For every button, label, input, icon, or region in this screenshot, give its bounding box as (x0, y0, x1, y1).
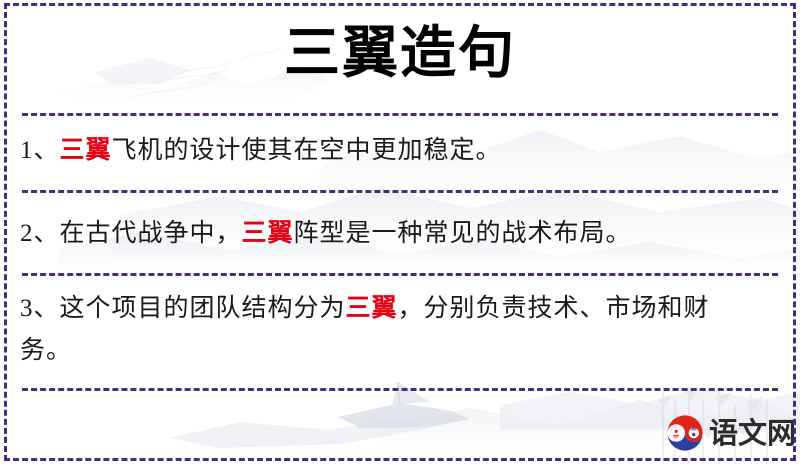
sentence-3-number: 3、 (20, 295, 60, 322)
sentence-item-2: 2、在古代战争中，三翼阵型是一种常见的战术布局。 (20, 213, 784, 255)
sentence-1-keyword: 三翼 (60, 137, 112, 164)
separator-line-3 (22, 273, 778, 276)
content-layer: 三翼造句 1、三翼飞机的设计使其在空中更加稳定。 2、在古代战争中，三翼阵型是一… (0, 0, 800, 464)
sentence-2-number: 2、 (20, 220, 60, 247)
separator-line-4 (22, 388, 778, 391)
sentence-item-1: 1、三翼飞机的设计使其在空中更加稳定。 (20, 130, 784, 172)
site-logo[interactable]: 语文网 (665, 410, 790, 456)
yinyang-fish-logo-icon (665, 413, 705, 453)
sentence-3-keyword: 三翼 (346, 295, 398, 322)
site-logo-text: 语文网 (709, 417, 796, 449)
sentence-2-before: 在古代战争中， (60, 220, 242, 247)
separator-line-1 (22, 113, 778, 116)
sentence-item-3: 3、这个项目的团队结构分为三翼，分别负责技术、市场和财务。 (20, 288, 720, 372)
sentence-2-keyword: 三翼 (242, 220, 294, 247)
sentence-1-number: 1、 (20, 137, 60, 164)
sentence-2-after: 阵型是一种常见的战术布局。 (294, 220, 632, 247)
sentence-1-after: 飞机的设计使其在空中更加稳定。 (112, 137, 502, 164)
page-title: 三翼造句 (0, 20, 800, 86)
separator-line-2 (22, 190, 778, 193)
sentence-3-before: 这个项目的团队结构分为 (60, 295, 346, 322)
document-page: 三翼造句 1、三翼飞机的设计使其在空中更加稳定。 2、在古代战争中，三翼阵型是一… (0, 0, 800, 464)
